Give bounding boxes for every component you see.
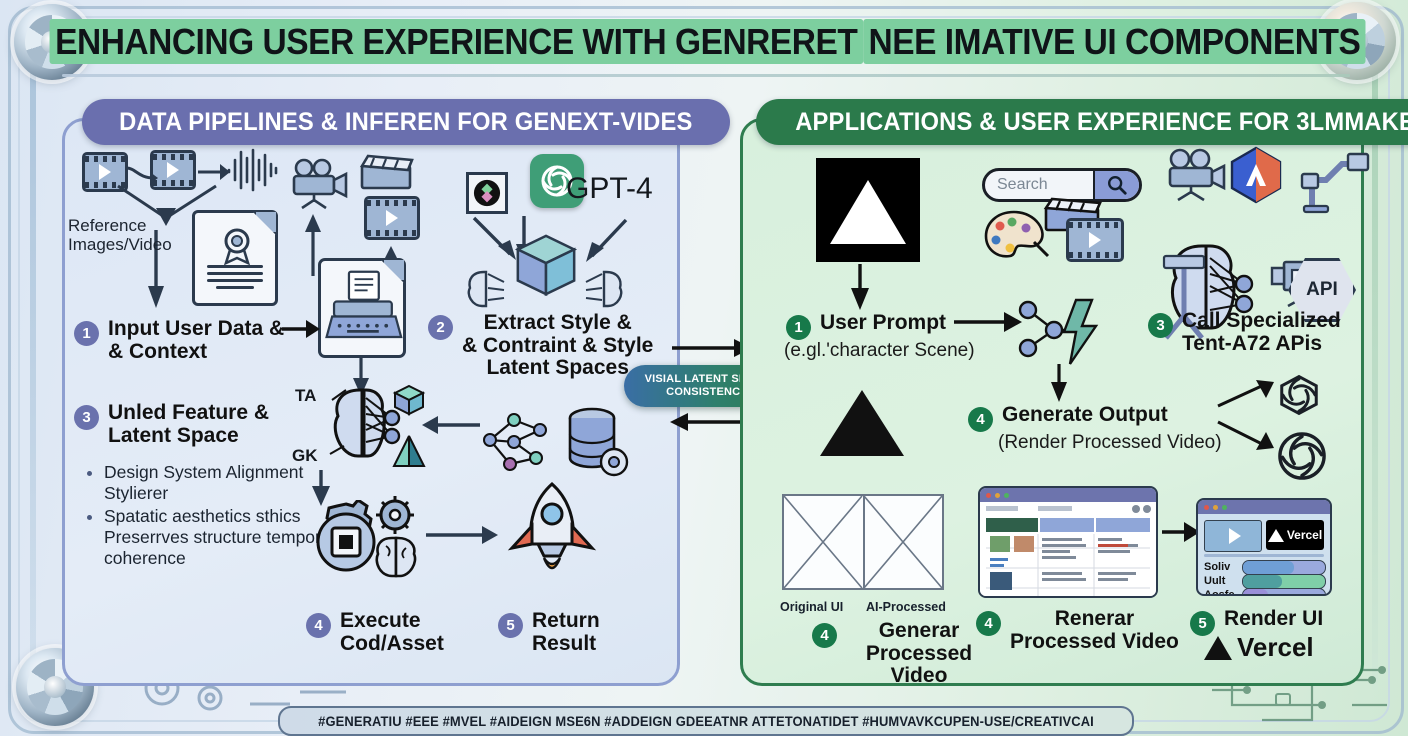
arrow-down-right-icon [1216,416,1280,454]
brain-icon [372,534,420,580]
right-step-3: 3 Call Specialized Tent-A72 APis [1148,310,1348,355]
wireframe-label-left: Original UI [780,600,843,614]
window-titlebar [980,488,1156,502]
clapperboard-icon [358,152,414,192]
arrow-down-icon [1048,364,1070,404]
arrow-down-icon [848,264,872,310]
arrow-left-icon [420,414,482,436]
right-step-1-sub: (e.gl.'character Scene) [784,340,975,362]
hexagon-logo-icon [1228,146,1284,204]
step-number-badge: 3 [1148,313,1173,338]
step-number-badge: 2 [428,315,453,340]
graph-network-icon [480,408,554,474]
right-step-4: 4 Generate Output [968,404,1198,432]
model-thumbnail-icon [466,172,508,214]
slider-label: Soliv [1204,561,1230,573]
hashtag-bar: #GENERATIU #EEE #MVEL #AIDEIGN MSE6N #AD… [278,706,1134,736]
page-title: ENHANCING USER EXPERIENCE WITH GENRERETN… [88,16,1328,68]
left-step-1: 1 Input User Data & & Context [74,318,304,363]
3d-cube-icon [512,232,580,300]
right-panel-header-label: APPLICATIONS & USER EXPERIENCE FOR 3LMMA… [795,108,1408,137]
search-icon [1106,174,1128,196]
step-number-badge: 1 [74,321,99,346]
vercel-tile: Vercel [1266,520,1324,550]
slider-label: Aosfe [1204,589,1235,596]
title-highlight-2: NEE IMATIVE UI COMPONENTS [863,19,1366,64]
vercel-triangle-icon [1204,636,1232,660]
typewriter-icon [318,258,406,358]
wireframe-label-right: AI-Processed [866,600,946,614]
left-edge-accent [30,40,36,690]
step-number-badge: 4 [976,611,1001,636]
audio-waveform-icon [226,148,278,192]
certificate-document-icon [192,210,278,306]
step-number-badge: 5 [498,613,523,638]
search-button[interactable] [1093,171,1139,199]
render-window-mockup: Vercel Soliv Uult Aosfe [1196,498,1332,596]
right-step-1: 1 User Prompt [786,312,976,340]
slider-label: Uult [1204,575,1225,587]
robot-arm-camera-icon [1298,150,1370,214]
gpt4-label: GPT-4 [566,172,653,206]
left-step-4: 4 Execute Cod/Asset [306,610,506,655]
title-divider [62,74,1350,77]
prompt-thumbnail [816,158,920,262]
movie-camera-icon [288,158,348,210]
slider-track[interactable] [1242,588,1326,596]
video-play-icon [1066,218,1124,262]
left-panel-header: DATA PIPELINES & INFEREN FOR GENEXT-VIDE… [82,99,730,145]
brain-network-icon [464,268,510,312]
vercel-wordmark: Vercel [1204,632,1314,663]
right-step-renerar: 4 Renerar Processed Video [976,608,1206,653]
infographic-canvas: ENHANCING USER EXPERIENCE WITH GENRERETN… [0,0,1408,736]
step-number-badge: 3 [74,405,99,430]
arrow-right-icon [424,524,500,546]
prompt-triangle [820,390,904,456]
slider-track[interactable] [1242,574,1326,589]
window-titlebar [1198,500,1330,514]
title-highlight-1: ENHANCING USER EXPERIENCE WITH GENRERET [50,19,863,64]
left-step-5: 5 Return Result [498,610,658,655]
rocket-icon [500,478,604,590]
search-placeholder: Search [985,176,1093,194]
gear-icon [372,492,418,538]
slider-track[interactable] [1242,560,1326,575]
step-number-badge: 4 [812,623,837,648]
movie-camera-icon [1164,148,1226,202]
arrow-right-icon [280,318,322,340]
step-number-badge: 4 [968,407,993,432]
right-step-4-sub: (Render Processed Video) [998,432,1222,454]
pyramid-icon [392,434,426,470]
left-step-3: 3 Unled Feature & Latent Space [74,402,304,447]
small-cube-icon [392,384,426,416]
ai-spark-node-icon [1014,296,1110,368]
right-step-generar: 4 Generar Processed Video [812,620,992,688]
vls-line-2: CONSISTENCY [666,386,748,399]
brain-network-icon [580,268,626,312]
left-step-2: 2 Extract Style & & Contraint & Style La… [428,312,658,380]
api-label: API [1306,279,1338,301]
hashtag-text: #GENERATIU #EEE #MVEL #AIDEIGN MSE6N #AD… [318,714,1094,729]
database-icon [564,406,630,478]
reference-label: Reference Images/Video [68,216,188,254]
left-panel-header-label: DATA PIPELINES & INFEREN FOR GENEXT-VIDE… [119,108,692,137]
openai-logo-icon [1276,372,1322,418]
step-number-badge: 1 [786,315,811,340]
video-preview [1204,520,1262,552]
openai-logo-icon [1276,430,1328,482]
right-panel-header: APPLICATIONS & USER EXPERIENCE FOR 3LMMA… [756,99,1408,145]
arrow-up-right-icon [1216,378,1280,410]
step-number-badge: 4 [306,613,331,638]
wireframe-comparison [782,494,944,590]
app-window-mockup [978,486,1158,598]
video-play-icon [364,196,420,240]
